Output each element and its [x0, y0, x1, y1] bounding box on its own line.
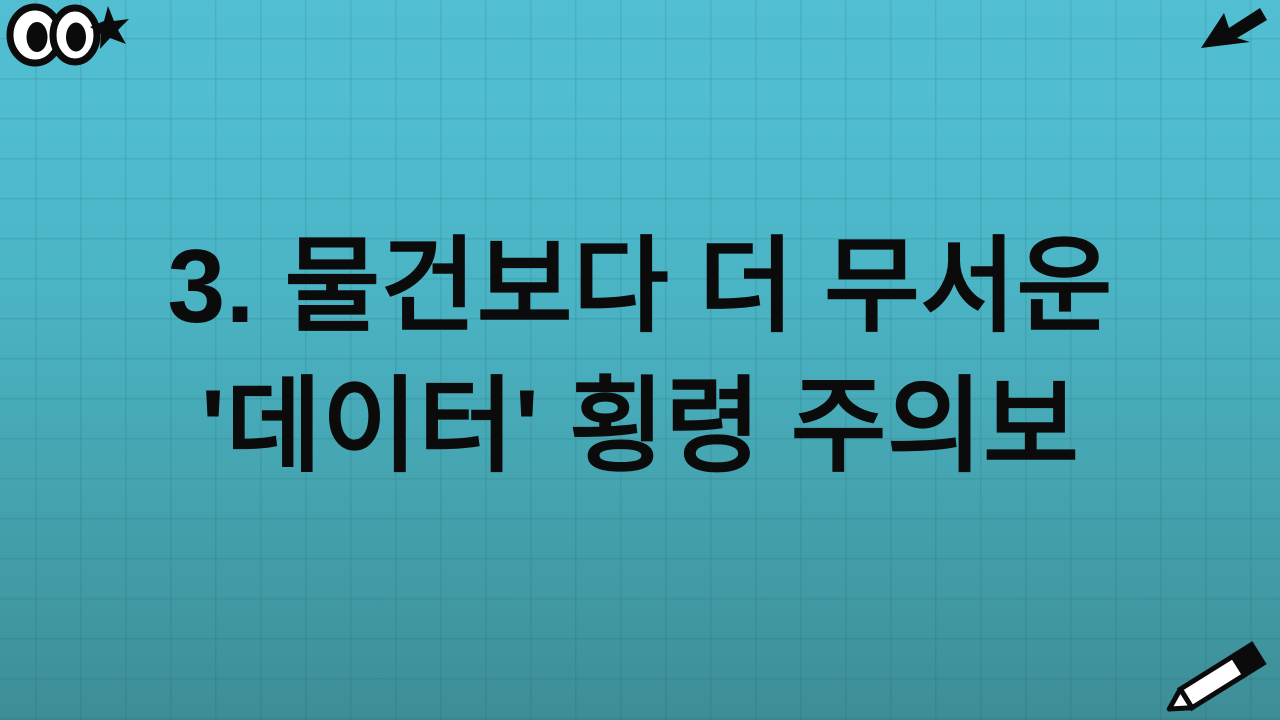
slide-canvas: 3. 물건보다 더 무서운 '데이터' 횡령 주의보	[0, 0, 1280, 720]
arrow-icon	[1198, 4, 1268, 56]
pencil-icon	[1158, 638, 1276, 718]
title-line-2: '데이터' 횡령 주의보	[201, 357, 1080, 497]
eye-right	[53, 8, 97, 62]
page-title: 3. 물건보다 더 무서운 '데이터' 횡령 주의보	[0, 212, 1280, 502]
title-line-1: 3. 물건보다 더 무서운	[167, 217, 1112, 357]
googly-eyes-icon	[4, 2, 129, 68]
